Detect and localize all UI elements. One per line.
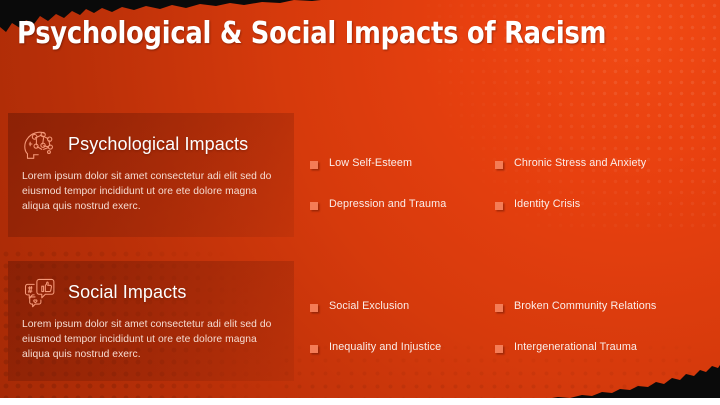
panel-psychological-impacts: Psychological Impacts Lorem ipsum dolor … — [8, 113, 294, 237]
list-item[interactable]: Depression and Trauma — [310, 198, 495, 211]
list-item[interactable]: Broken Community Relations — [495, 300, 710, 313]
page-title: Psychological & Social Impacts of Racism — [17, 18, 606, 50]
list-item[interactable]: Chronic Stress and Anxiety — [495, 157, 710, 170]
list-item-label: Social Exclusion — [329, 300, 409, 313]
list-item-label: Chronic Stress and Anxiety — [514, 157, 646, 170]
list-item-label: Intergenerational Trauma — [514, 341, 637, 354]
list-item-label: Inequality and Injustice — [329, 341, 441, 354]
list-item-label: Broken Community Relations — [514, 300, 656, 313]
square-bullet-icon — [310, 345, 318, 353]
list-item-label: Identity Crisis — [514, 198, 580, 211]
social-media-bubbles-icon — [22, 275, 58, 309]
square-bullet-icon — [495, 161, 503, 169]
square-bullet-icon — [495, 304, 503, 312]
panel-description: Lorem ipsum dolor sit amet consectetur a… — [22, 169, 282, 215]
list-item[interactable]: Intergenerational Trauma — [495, 341, 710, 354]
bullet-row: Inequality and Injustice Intergeneration… — [310, 341, 710, 354]
bullet-list-psychological: Low Self-Esteem Chronic Stress and Anxie… — [310, 157, 710, 211]
list-item-label: Low Self-Esteem — [329, 157, 412, 170]
square-bullet-icon — [495, 202, 503, 210]
bullet-row: Low Self-Esteem Chronic Stress and Anxie… — [310, 157, 710, 170]
panel-header: Social Impacts — [22, 275, 186, 309]
list-item[interactable]: Low Self-Esteem — [310, 157, 495, 170]
bullet-row: Depression and Trauma Identity Crisis — [310, 198, 710, 211]
list-item[interactable]: Identity Crisis — [495, 198, 710, 211]
panel-title: Social Impacts — [68, 282, 186, 303]
square-bullet-icon — [495, 345, 503, 353]
list-item-label: Depression and Trauma — [329, 198, 446, 211]
bullet-row: Social Exclusion Broken Community Relati… — [310, 300, 710, 313]
panel-title: Psychological Impacts — [68, 134, 248, 155]
panel-description: Lorem ipsum dolor sit amet consectetur a… — [22, 317, 282, 363]
slide-canvas: Psychological & Social Impacts of Racism — [0, 0, 720, 398]
square-bullet-icon — [310, 304, 318, 312]
bullet-list-social: Social Exclusion Broken Community Relati… — [310, 300, 710, 354]
list-item[interactable]: Social Exclusion — [310, 300, 495, 313]
list-item[interactable]: Inequality and Injustice — [310, 341, 495, 354]
panel-social-impacts: Social Impacts Lorem ipsum dolor sit ame… — [8, 261, 294, 381]
torn-paper-shape-bottom-right — [544, 360, 720, 398]
head-brain-network-icon — [22, 127, 58, 161]
panel-header: Psychological Impacts — [22, 127, 248, 161]
square-bullet-icon — [310, 202, 318, 210]
square-bullet-icon — [310, 161, 318, 169]
